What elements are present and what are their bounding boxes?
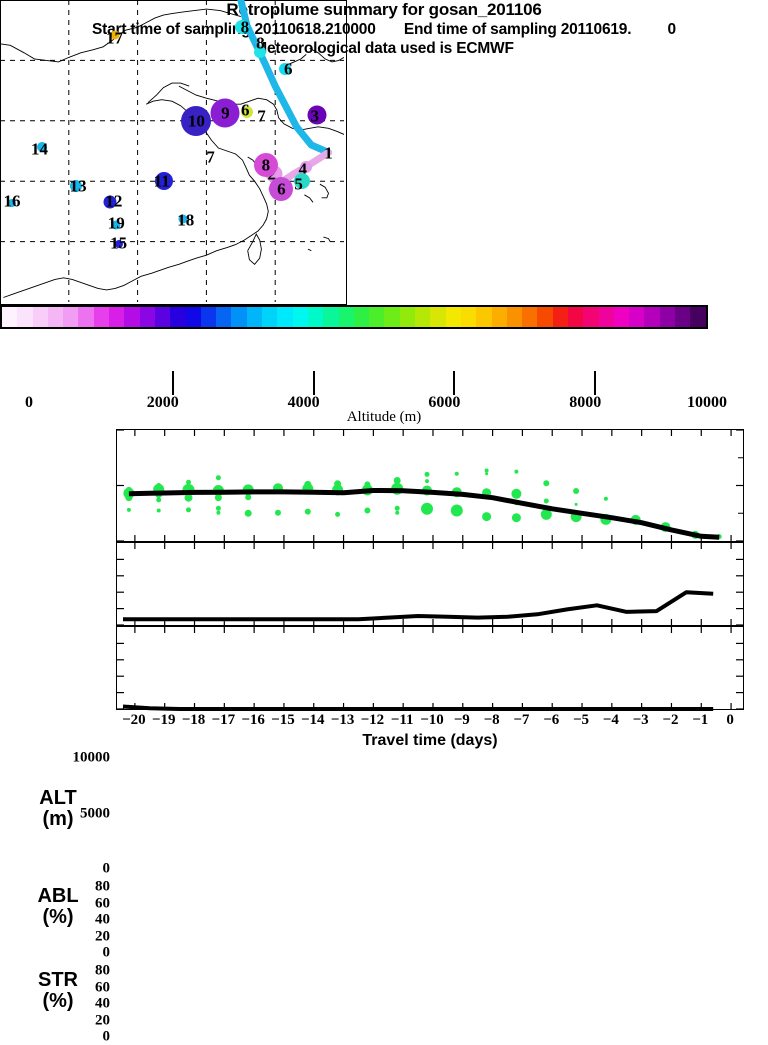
map-cluster-label: 8 [262, 156, 271, 173]
y-tick-label: 80 [0, 964, 110, 979]
y-tick-label: 10000 [0, 751, 110, 766]
y-tick-label: 0 [0, 1030, 110, 1045]
colorbar-swatch [446, 307, 461, 327]
colorbar-swatch [690, 307, 705, 327]
map-cluster-label: 10 [188, 112, 205, 129]
x-tick-label: −15 [271, 712, 295, 728]
x-tick-label: −7 [513, 712, 529, 728]
map-cluster-label: 6 [241, 102, 250, 119]
colorbar-swatch [522, 307, 537, 327]
map-cluster-label: 14 [31, 141, 48, 158]
colorbar-swatch [339, 307, 354, 327]
colorbar-swatch [476, 307, 491, 327]
colorbar-swatch [644, 307, 659, 327]
colorbar-swatch [78, 307, 93, 327]
x-tick-label: −4 [603, 712, 619, 728]
colorbar-swatch [94, 307, 109, 327]
map-cluster-label: 6 [277, 180, 286, 197]
y-tick-label: 20 [0, 1013, 110, 1028]
map-cluster-label: 8 [256, 35, 265, 52]
colorbar-swatch [583, 307, 598, 327]
colorbar-swatch [231, 307, 246, 327]
colorbar-swatch [33, 307, 48, 327]
y-tick-label: 60 [0, 896, 110, 911]
colorbar-swatch [155, 307, 170, 327]
colorbar-swatch [400, 307, 415, 327]
colorbar-swatch [675, 307, 690, 327]
abl-panel[interactable] [116, 542, 744, 626]
map-cluster-label: 1 [324, 144, 333, 161]
colorbar-swatch [17, 307, 32, 327]
x-tick-label: −14 [301, 712, 325, 728]
colorbar-swatch [568, 307, 583, 327]
alt-plot-graphics [117, 430, 743, 541]
map-cluster-label: 13 [70, 177, 87, 194]
colorbar-swatch [553, 307, 568, 327]
x-tick-label: −1 [692, 712, 708, 728]
colorbar-swatch [2, 307, 17, 327]
x-tick-label: −20 [122, 712, 146, 728]
colorbar-swatch [48, 307, 63, 327]
x-tick-labels: −20−19−18−17−16−15−14−13−12−11−10−9−8−7−… [0, 712, 768, 732]
colorbar-swatch [63, 307, 78, 327]
colorbar-swatch [277, 307, 292, 327]
map-cluster-label: 7 [206, 149, 215, 166]
y-tick-label: 5000 [0, 806, 110, 821]
x-tick-label: 0 [726, 712, 734, 728]
x-tick-label: −17 [212, 712, 236, 728]
altitude-colorbar [0, 305, 708, 329]
x-tick-label: −11 [391, 712, 414, 728]
x-tick-label: −2 [662, 712, 678, 728]
x-tick-label: −5 [573, 712, 589, 728]
map-cluster-label: 12 [105, 192, 122, 209]
colorbar-swatch [186, 307, 201, 327]
colorbar-swatch [170, 307, 185, 327]
map-cluster-label: 18 [177, 212, 194, 229]
colorbar-axis-title: Altitude (m) [0, 409, 768, 426]
map-cluster-label: 16 [4, 192, 21, 209]
colorbar-swatch [247, 307, 262, 327]
x-tick-label: −13 [331, 712, 355, 728]
x-tick-label: −18 [182, 712, 206, 728]
colorbar-swatch [660, 307, 675, 327]
colorbar-swatch [492, 307, 507, 327]
end-time-extra: 0 [668, 21, 676, 38]
end-time-value: 20110619. [561, 21, 632, 38]
y-tick-label: 40 [0, 913, 110, 928]
y-tick-label: 0 [0, 946, 110, 961]
map-graphics [0, 0, 344, 302]
colorbar-swatch [384, 307, 399, 327]
colorbar-swatch [323, 307, 338, 327]
colorbar-swatch [507, 307, 522, 327]
colorbar-swatch [308, 307, 323, 327]
alt-panel[interactable] [116, 429, 744, 542]
colorbar-swatch [293, 307, 308, 327]
x-tick-label: −6 [543, 712, 559, 728]
colorbar-swatch [629, 307, 644, 327]
colorbar-swatch [461, 307, 476, 327]
map-gridlines [0, 0, 344, 302]
colorbar-swatch [201, 307, 216, 327]
colorbar-swatch [140, 307, 155, 327]
end-time-label: End time of sampling [404, 21, 557, 38]
colorbar-swatch [614, 307, 629, 327]
colorbar-tick [594, 371, 596, 395]
x-tick-label: −10 [420, 712, 444, 728]
map-cluster-label: 7 [257, 108, 266, 125]
str-panel[interactable] [116, 626, 744, 710]
colorbar-tick [313, 371, 315, 395]
x-tick-label: −9 [454, 712, 470, 728]
x-tick-label: −3 [633, 712, 649, 728]
map-cluster-label: 19 [108, 215, 125, 232]
x-tick-label: −8 [484, 712, 500, 728]
colorbar-swatch [537, 307, 552, 327]
map-coastlines [0, 9, 344, 297]
map-cluster-label: 6 [284, 61, 293, 78]
map-cluster-label: 17 [106, 29, 123, 46]
retroplume-map[interactable]: 1234566677888910111213141516171819 [0, 0, 347, 305]
map-cluster-label: 9 [221, 105, 230, 122]
colorbar-swatch [430, 307, 445, 327]
colorbar-swatch [124, 307, 139, 327]
x-axis-title: Travel time (days) [116, 732, 744, 750]
map-cluster-label: 5 [294, 176, 303, 193]
x-tick-label: −16 [241, 712, 265, 728]
y-tick-label: 40 [0, 997, 110, 1012]
colorbar-swatch [369, 307, 384, 327]
colorbar-tick [453, 371, 455, 395]
map-cluster-label: 11 [154, 173, 170, 190]
map-cluster-label: 8 [241, 18, 250, 35]
str-plot-graphics [117, 627, 743, 709]
y-tick-label: 0 [0, 862, 110, 877]
y-tick-label: 60 [0, 980, 110, 995]
y-tick-label: 20 [0, 929, 110, 944]
colorbar-swatch [216, 307, 231, 327]
map-cluster-label: 3 [311, 108, 320, 125]
colorbar-tick [172, 371, 174, 395]
colorbar-swatch [262, 307, 277, 327]
y-tick-label: 80 [0, 880, 110, 895]
abl-plot-graphics [117, 543, 743, 625]
colorbar-swatch [354, 307, 369, 327]
colorbar-swatch [109, 307, 124, 327]
x-tick-label: −19 [152, 712, 176, 728]
x-tick-label: −12 [361, 712, 385, 728]
map-cluster-label: 15 [110, 235, 127, 252]
colorbar-swatch [415, 307, 430, 327]
colorbar-swatch [599, 307, 614, 327]
